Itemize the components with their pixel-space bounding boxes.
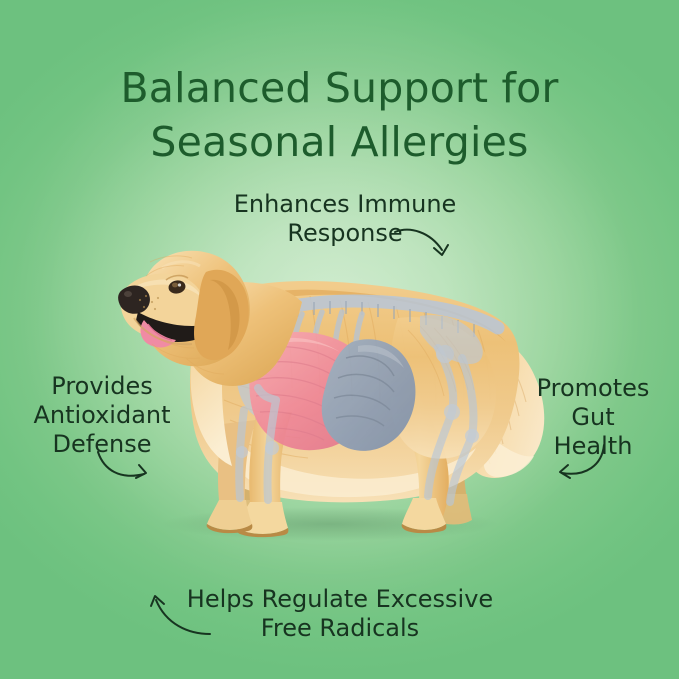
callout-immune-line-1: Enhances Immune xyxy=(205,190,485,219)
dog-head xyxy=(118,251,302,386)
allergy-support-infographic: Balanced Support for Seasonal Allergies … xyxy=(0,0,679,679)
callout-antioxidant-line-2: Antioxidant xyxy=(12,401,192,430)
title-line-2: Seasonal Allergies xyxy=(0,115,679,169)
title-line-1: Balanced Support for xyxy=(0,61,679,115)
callout-gut-line-1: Promotes xyxy=(518,374,668,403)
curved-arrow-antioxidant-icon xyxy=(96,444,168,490)
callout-antioxidant-line-1: Provides xyxy=(12,372,192,401)
curved-arrow-immune-icon xyxy=(392,222,462,272)
page-title: Balanced Support for Seasonal Allergies xyxy=(0,61,679,169)
callout-gut-line-2: Gut xyxy=(518,403,668,432)
curved-arrow-radicals-icon xyxy=(148,588,220,640)
curved-arrow-gut-icon xyxy=(548,443,614,489)
